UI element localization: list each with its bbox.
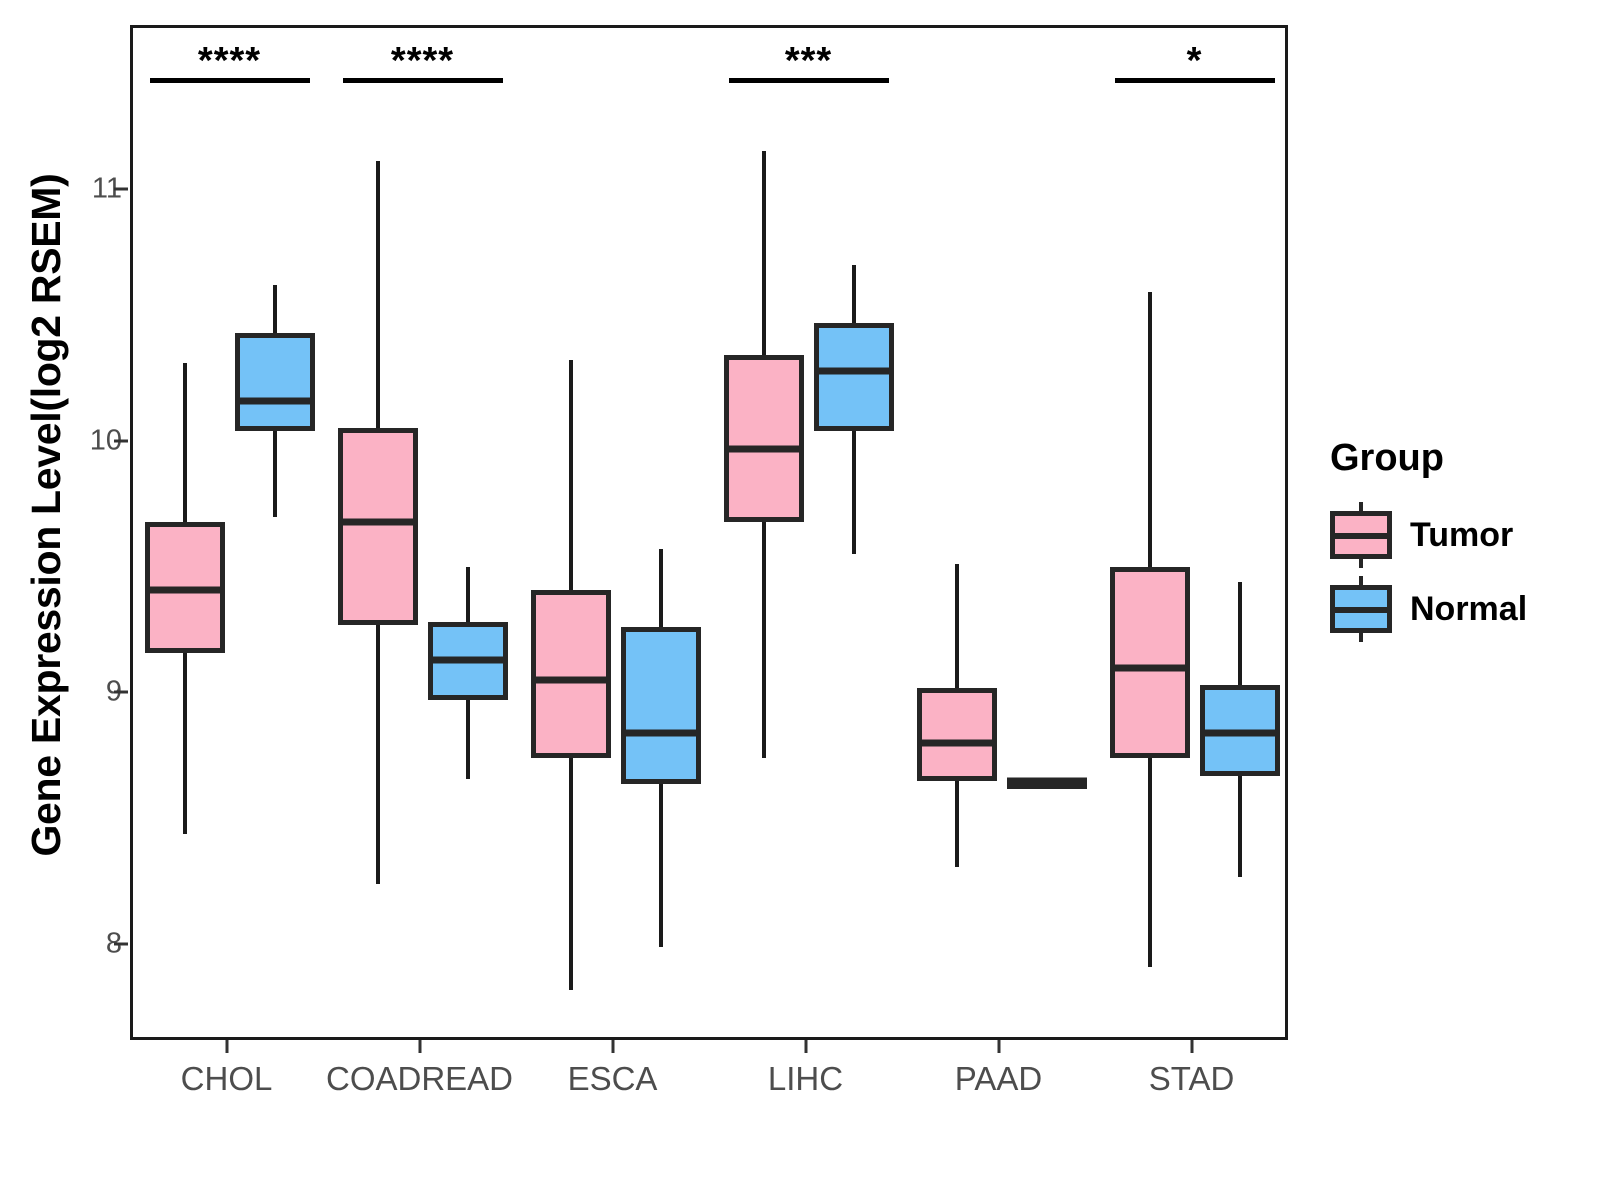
- boxplot-median: [428, 657, 508, 664]
- y-tick-label: 11: [62, 172, 122, 205]
- x-tick-label-chol: CHOL: [181, 1060, 273, 1098]
- y-tick-mark: [114, 691, 128, 694]
- boxplot-median: [531, 677, 611, 684]
- x-tick-mark: [1190, 1040, 1193, 1053]
- x-tick-label-lihc: LIHC: [768, 1060, 843, 1098]
- boxplot-box-paad-tumor: [917, 688, 997, 781]
- boxplot-box-esca-normal: [621, 627, 701, 783]
- y-tick-label: 9: [62, 676, 122, 709]
- x-tick-label-coadread: COADREAD: [326, 1060, 513, 1098]
- boxplot-box-lihc-normal: [814, 323, 894, 431]
- significance-label-chol: ****: [198, 42, 261, 80]
- plot-area: ************: [133, 28, 1285, 1037]
- y-tick-label: 10: [62, 424, 122, 457]
- boxplot-median: [1007, 778, 1087, 785]
- legend-median: [1330, 533, 1392, 539]
- legend-key-normal: [1330, 576, 1392, 642]
- legend-label: Tumor: [1410, 516, 1513, 555]
- legend-items: TumorNormal: [1330, 502, 1590, 642]
- y-tick-mark: [114, 187, 128, 190]
- significance-label-stad: *: [1187, 42, 1203, 80]
- boxplot-box-chol-normal: [235, 333, 315, 431]
- x-tick-mark: [804, 1040, 807, 1053]
- boxplot-median: [814, 367, 894, 374]
- y-axis-title: Gene Expression Level(log2 RSEM): [14, 0, 78, 1030]
- significance-label-lihc: ***: [785, 42, 832, 80]
- boxplot-box-stad-tumor: [1110, 567, 1190, 758]
- chart-root: Gene Expression Level(log2 RSEM) 891011 …: [0, 0, 1600, 1200]
- boxplot-median: [338, 518, 418, 525]
- boxplot-median: [621, 730, 701, 737]
- legend-item-tumor[interactable]: Tumor: [1330, 502, 1590, 568]
- x-tick-mark: [418, 1040, 421, 1053]
- y-tick-mark: [114, 943, 128, 946]
- boxplot-median: [1110, 664, 1190, 671]
- y-tick-label: 8: [62, 928, 122, 961]
- x-tick-label-paad: PAAD: [955, 1060, 1042, 1098]
- boxplot-box-coadread-tumor: [338, 428, 418, 624]
- boxplot-median: [235, 397, 315, 404]
- significance-label-coadread: ****: [391, 42, 454, 80]
- legend-title: Group: [1330, 437, 1590, 480]
- legend-median: [1330, 607, 1392, 613]
- boxplot-median: [917, 740, 997, 747]
- boxplot-box-esca-tumor: [531, 590, 611, 759]
- legend-item-normal[interactable]: Normal: [1330, 576, 1590, 642]
- x-tick-label-esca: ESCA: [568, 1060, 658, 1098]
- plot-panel: ************: [130, 25, 1288, 1040]
- x-tick-label-stad: STAD: [1149, 1060, 1235, 1098]
- boxplot-median: [145, 586, 225, 593]
- x-tick-mark: [225, 1040, 228, 1053]
- y-tick-mark: [114, 439, 128, 442]
- x-tick-mark: [997, 1040, 1000, 1053]
- legend: Group TumorNormal: [1330, 437, 1590, 650]
- legend-key-tumor: [1330, 502, 1392, 568]
- boxplot-box-lihc-tumor: [724, 355, 804, 521]
- legend-label: Normal: [1410, 590, 1527, 629]
- boxplot-median: [724, 445, 804, 452]
- boxplot-median: [1200, 730, 1280, 737]
- x-tick-mark: [611, 1040, 614, 1053]
